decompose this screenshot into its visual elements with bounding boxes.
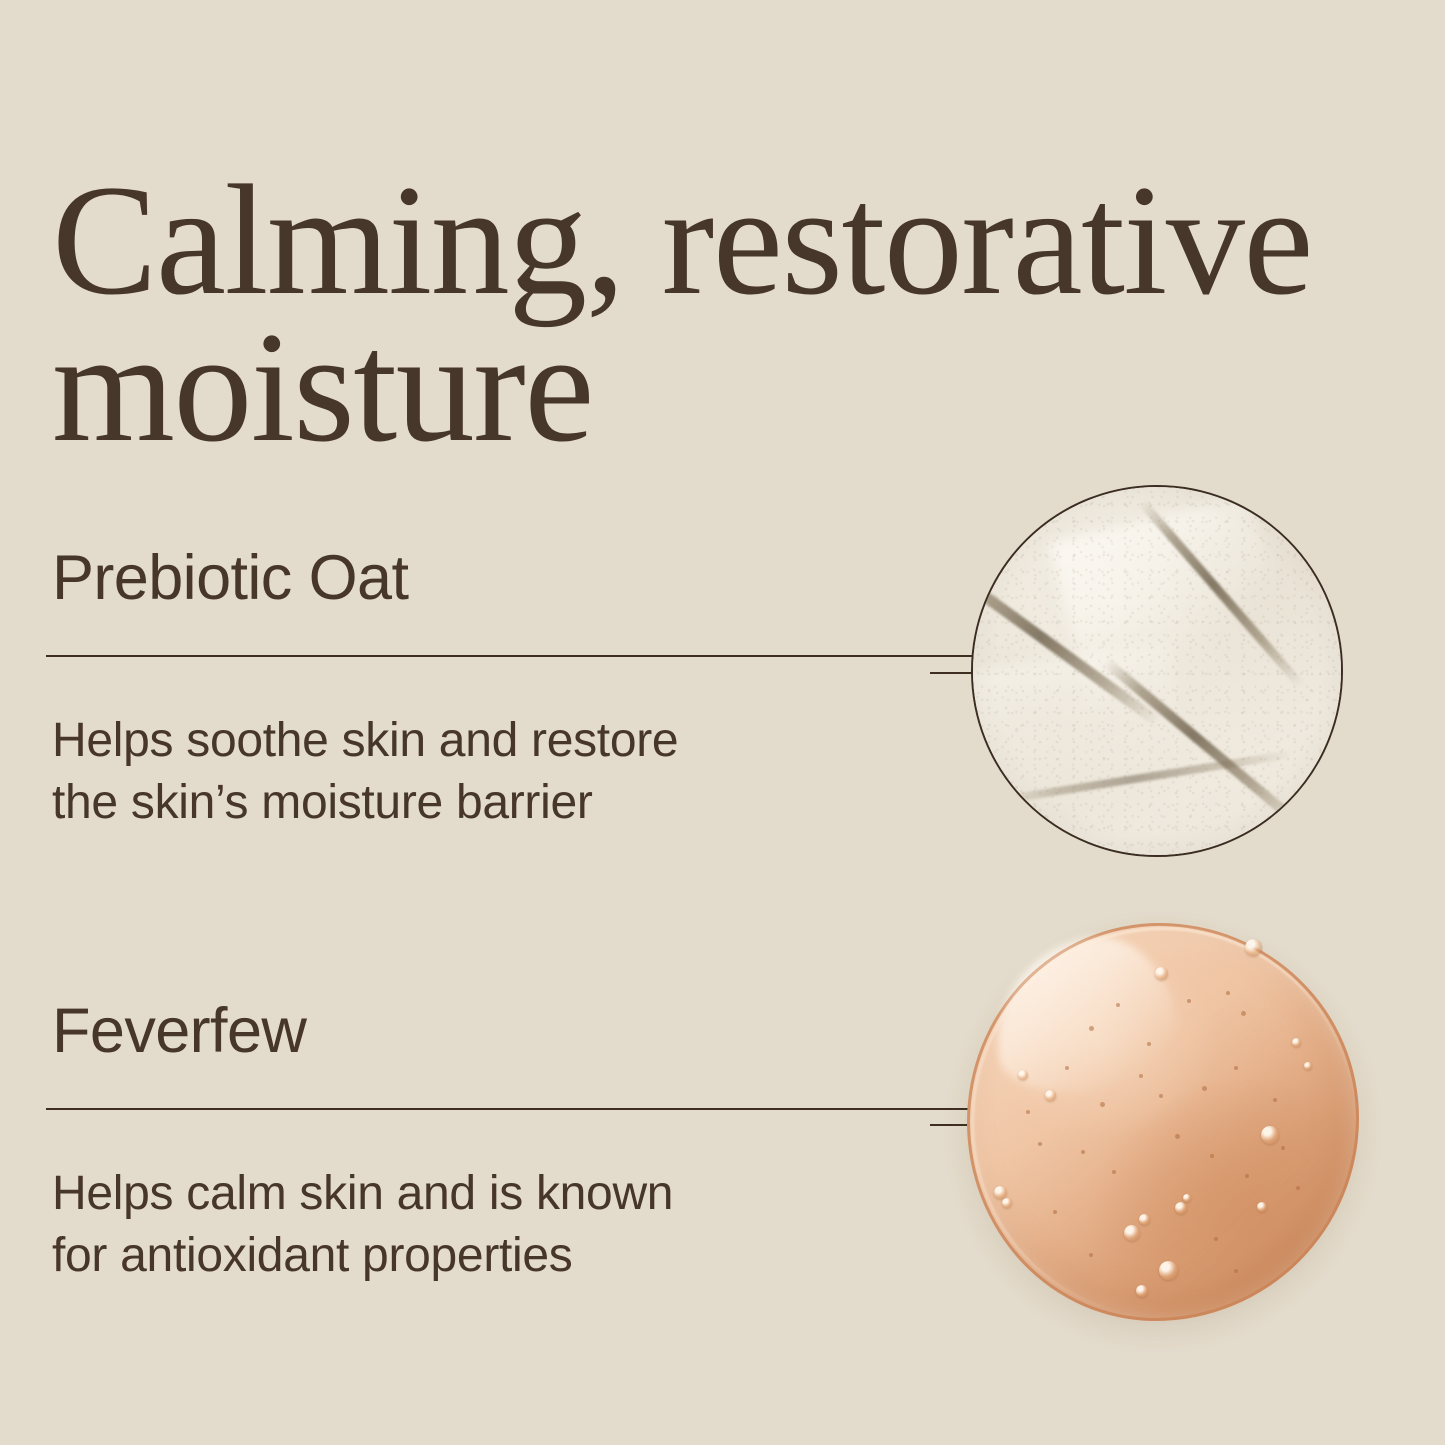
gel-speck: [1116, 1003, 1120, 1007]
gel-bubble: [1175, 1202, 1187, 1214]
ingredient-block-feverfew: Feverfew Helps calm skin and is known fo…: [46, 1000, 976, 1288]
connector-line-feverfew: [930, 1124, 972, 1126]
gel-speck: [1053, 1210, 1057, 1214]
gel-speck: [1234, 1066, 1238, 1070]
gel-speck: [1234, 1269, 1238, 1273]
gel-speck: [1210, 1154, 1214, 1158]
ingredient-description-feverfew: Helps calm skin and is known for antioxi…: [46, 1163, 976, 1288]
gel-bubble: [1139, 1214, 1150, 1225]
gel-speck: [1296, 1186, 1300, 1190]
page-title: Calming, restorative moisture: [52, 168, 1392, 462]
ingredient-title-feverfew: Feverfew: [46, 1000, 976, 1063]
gel-speck: [1226, 991, 1230, 995]
ingredient-block-prebiotic-oat: Prebiotic Oat Helps soothe skin and rest…: [46, 547, 976, 835]
gel-speck: [1187, 999, 1191, 1003]
gel-speck: [1112, 1170, 1116, 1174]
gel-bubble: [1155, 967, 1168, 980]
oat-powder-vignette: [973, 487, 1341, 855]
ingredient-divider-prebiotic-oat: [46, 655, 974, 657]
connector-line-prebiotic-oat: [930, 672, 974, 674]
gel-speck: [1081, 1150, 1085, 1154]
gel-speck: [1038, 1142, 1042, 1146]
gel-bubble: [1257, 1202, 1267, 1212]
gel-bubble: [1136, 1285, 1148, 1297]
ingredient-benefits-panel: Calming, restorative moisture Prebiotic …: [0, 0, 1445, 1445]
gel-speck: [1026, 1110, 1030, 1114]
gel-bubble: [1002, 1198, 1012, 1208]
gel-bubble: [1183, 1194, 1191, 1202]
gel-speck: [1175, 1134, 1180, 1139]
gel-speck: [1281, 1146, 1285, 1150]
gel-speck: [1089, 1253, 1093, 1257]
gel-bubble: [1261, 1126, 1279, 1144]
ingredient-description-prebiotic-oat: Helps soothe skin and restore the skin’s…: [46, 710, 976, 835]
ingredient-title-prebiotic-oat: Prebiotic Oat: [46, 547, 976, 610]
oat-powder-swatch: [971, 485, 1343, 857]
ingredient-divider-feverfew: [46, 1108, 974, 1110]
feverfew-gel-swatch: [967, 923, 1359, 1321]
gel-rim-highlight: [971, 927, 1355, 1317]
gel-speck: [1273, 1098, 1277, 1102]
